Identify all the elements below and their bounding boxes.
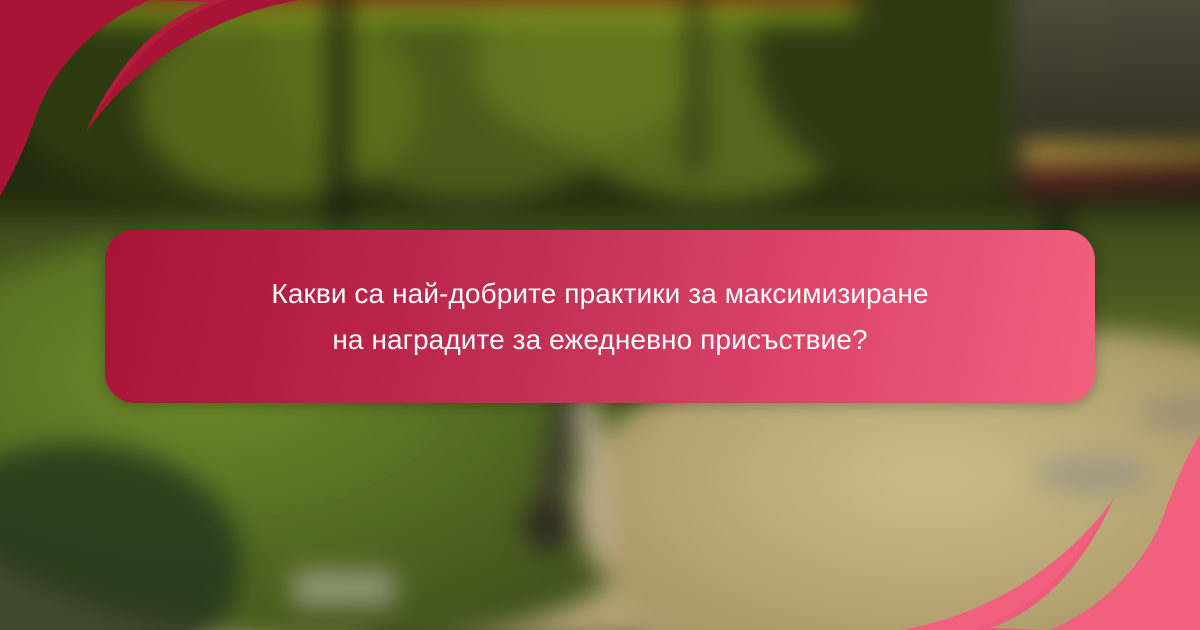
bg-hud-panel xyxy=(1010,0,1200,201)
bg-foliage-blob xyxy=(139,3,421,202)
bg-rock xyxy=(1035,457,1150,493)
question-text: Какви са най-добрите практики за максими… xyxy=(231,271,968,363)
bg-name-tag xyxy=(293,571,395,607)
bg-character-boot xyxy=(523,500,574,550)
question-card: Какви са най-добрите практики за максими… xyxy=(105,230,1095,403)
bg-hud-bar xyxy=(1022,173,1200,187)
share-card-canvas: Какви са най-добрите практики за максими… xyxy=(0,0,1200,630)
bg-tree-trunk xyxy=(690,0,700,173)
bg-green-strip xyxy=(88,3,856,24)
bg-hud-bar xyxy=(1022,145,1200,162)
